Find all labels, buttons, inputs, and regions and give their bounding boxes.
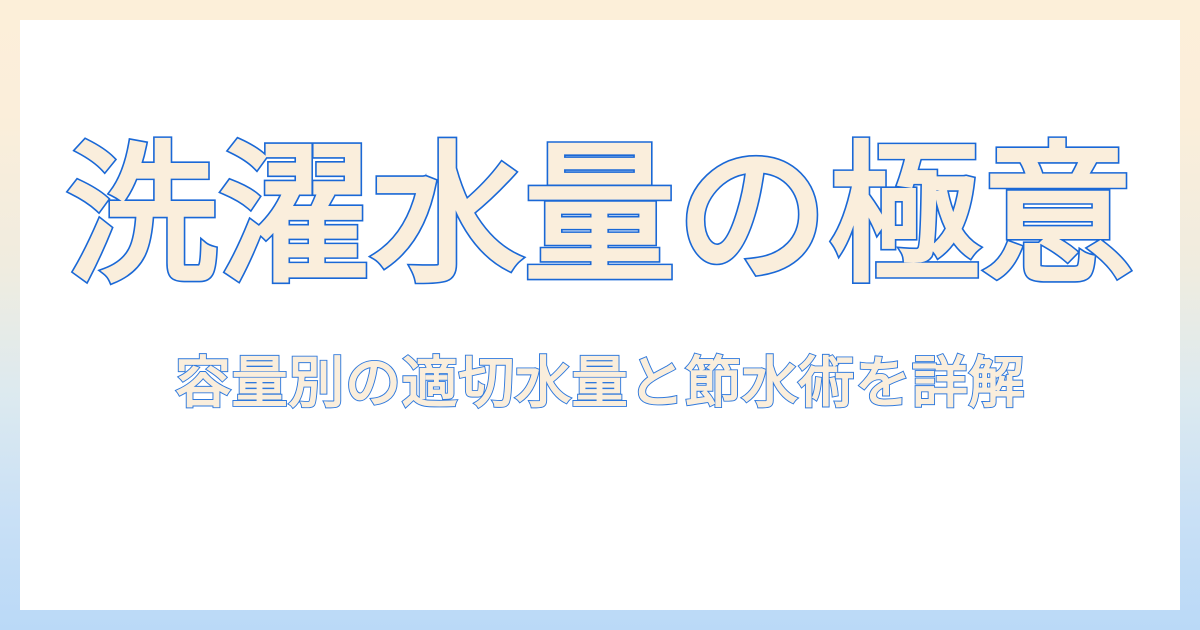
page-title: 洗濯水量の極意 (62, 138, 1138, 293)
headline-block: 洗濯水量の極意 容量別の適切水量と節水術を詳解 (20, 138, 1180, 414)
page-subtitle: 容量別の適切水量と節水術を詳解 (175, 355, 1025, 414)
ogp-card: 洗濯水量の極意 容量別の適切水量と節水術を詳解 (0, 0, 1200, 630)
inner-white-panel: 洗濯水量の極意 容量別の適切水量と節水術を詳解 (20, 20, 1180, 610)
